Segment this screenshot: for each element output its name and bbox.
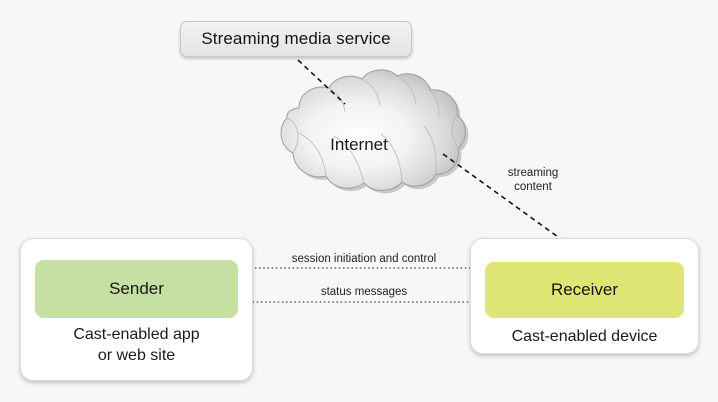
internet-cloud-label: Internet — [250, 135, 468, 155]
receiver-node[interactable]: Receiver — [485, 262, 684, 318]
edge-label-streaming-content-line1: streaming — [489, 166, 577, 180]
sender-caption: Cast-enabled app or web site — [20, 324, 253, 366]
internet-cloud-node[interactable]: Internet — [250, 84, 468, 199]
diagram-canvas: Streaming media service Internet Sender … — [0, 0, 718, 402]
sender-caption-line2: or web site — [20, 345, 253, 366]
receiver-label: Receiver — [551, 280, 618, 300]
edge-label-status-messages: status messages — [299, 285, 429, 299]
edge-label-streaming-content: streaming content — [489, 166, 577, 194]
sender-caption-line1: Cast-enabled app — [20, 324, 253, 345]
sender-node[interactable]: Sender — [35, 260, 238, 318]
edge-label-streaming-content-line2: content — [489, 180, 577, 194]
receiver-caption-line1: Cast-enabled device — [470, 326, 699, 347]
streaming-media-service-label: Streaming media service — [201, 29, 390, 49]
streaming-media-service-node[interactable]: Streaming media service — [180, 21, 412, 57]
receiver-caption: Cast-enabled device — [470, 326, 699, 347]
edge-label-session-initiation: session initiation and control — [279, 252, 449, 266]
sender-label: Sender — [109, 279, 164, 299]
